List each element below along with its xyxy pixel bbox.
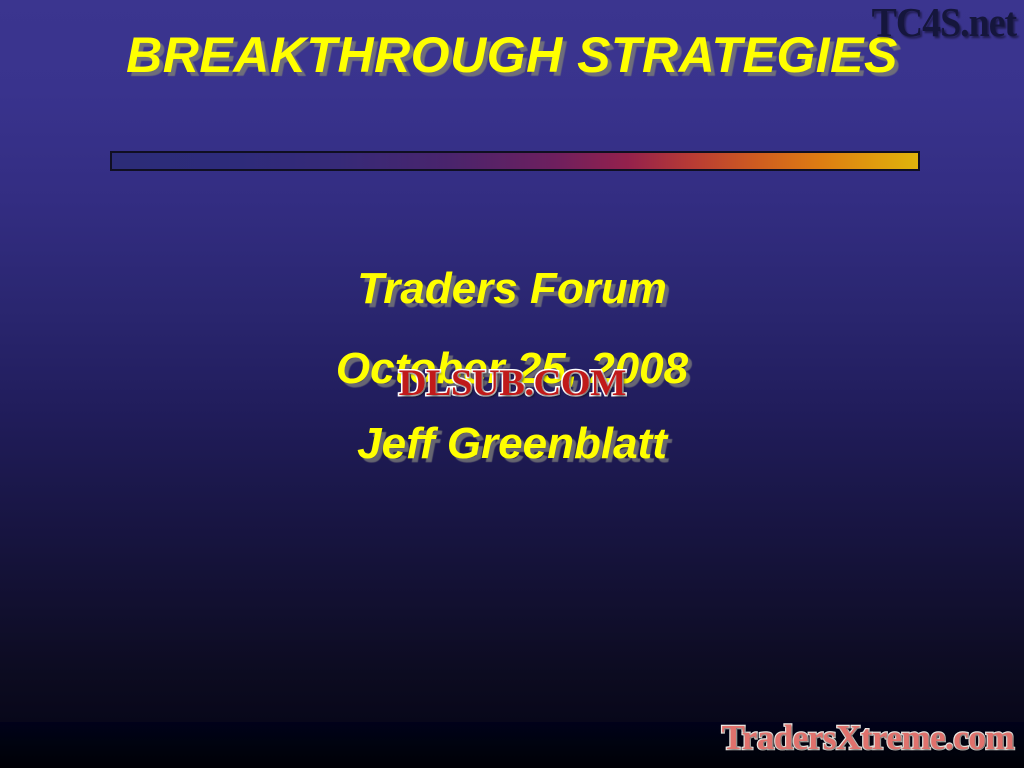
watermark-bottom-right: TradersXtreme.com	[722, 718, 1014, 758]
slide-title: BREAKTHROUGH STRATEGIES	[0, 26, 1024, 84]
slide-subtitle-presenter: Jeff Greenblatt	[0, 419, 1024, 469]
watermark-top-right: TC4S.net	[871, 0, 1016, 46]
gradient-divider-bar	[110, 151, 920, 171]
watermark-bottom-right-label: TradersXtreme.com	[722, 718, 1014, 758]
slide-subtitle-organization: Traders Forum	[0, 264, 1024, 314]
slide-subtitle-date: October 25, 2008	[0, 344, 1024, 394]
presentation-slide: BREAKTHROUGH STRATEGIES Traders Forum Oc…	[0, 0, 1024, 768]
